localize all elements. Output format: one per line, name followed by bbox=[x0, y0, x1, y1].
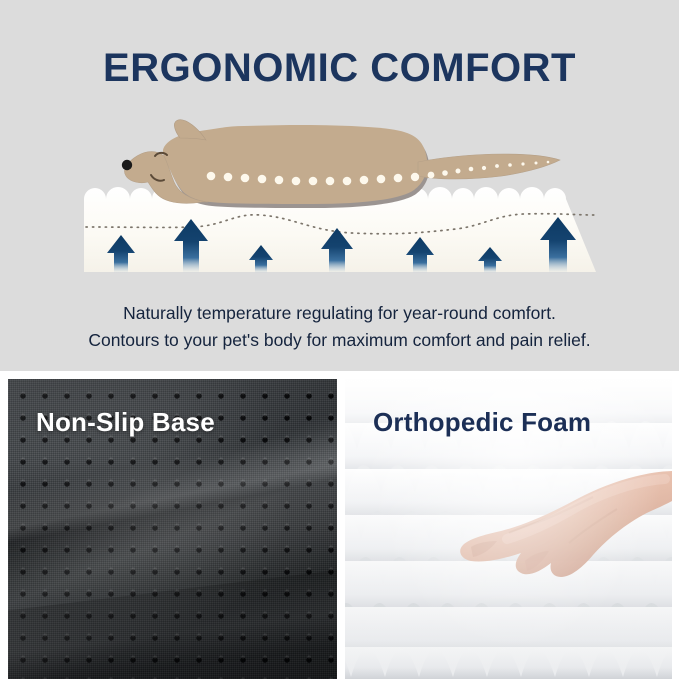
panel-label-non-slip-base: Non-Slip Base bbox=[36, 407, 215, 438]
panel-orthopedic-foam: Orthopedic Foam bbox=[345, 379, 672, 679]
hero-copy-line-1: Naturally temperature regulating for yea… bbox=[0, 300, 679, 327]
hero-panel: ERGONOMIC COMFORT bbox=[0, 0, 679, 371]
hero-copy-line-2: Contours to your pet's body for maximum … bbox=[0, 327, 679, 354]
dog-illustration bbox=[118, 118, 570, 228]
panel-non-slip-base: Non-Slip Base bbox=[8, 379, 337, 679]
feature-panels: Non-Slip Base bbox=[0, 379, 679, 679]
panel-label-orthopedic-foam: Orthopedic Foam bbox=[373, 407, 591, 438]
hero-description: Naturally temperature regulating for yea… bbox=[0, 300, 679, 354]
product-infographic: ERGONOMIC COMFORT bbox=[0, 0, 679, 679]
illustration-scene bbox=[0, 0, 679, 300]
dog-svg bbox=[118, 118, 570, 228]
